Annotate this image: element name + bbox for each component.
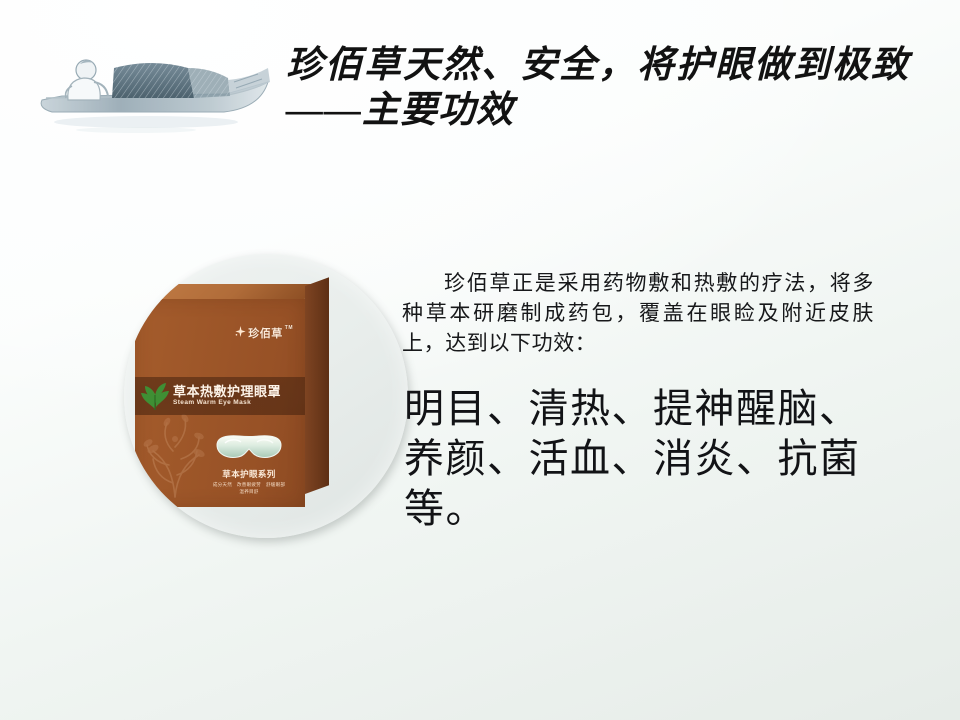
product-brand-tm: TM [285, 326, 293, 331]
body-paragraph: 珍佰草正是采用药物敷和热敷的疗法，将多种草本研磨制成药包，覆盖在眼睑及附近皮肤上… [402, 268, 874, 358]
product-box: 珍佰草 TM 草本热敷护理眼罩 [135, 284, 329, 508]
sparkle-icon [235, 326, 246, 337]
product-box-front-face: 珍佰草 TM 草本热敷护理眼罩 [135, 299, 305, 507]
product-name-text: 草本热敷护理眼罩 Steam Warm Eye Mask [173, 385, 281, 406]
product-series-label: 草本护眼系列 [207, 468, 291, 480]
product-feature: 舒缓眼部 [266, 482, 285, 488]
product-brand-logo: 珍佰草 TM [235, 325, 293, 341]
product-name-en: Steam Warm Eye Mask [173, 400, 281, 407]
product-feature: 改善眼疲劳 [237, 482, 261, 488]
product-feature: 成分天然 [213, 482, 232, 488]
slide-canvas: 珍佰草天然、安全，将护眼做到极致 ——主要功效 [0, 0, 960, 720]
leaf-icon [139, 381, 171, 411]
title-line-1: 珍佰草天然、安全，将护眼做到极致 [286, 44, 946, 87]
product-feature: 温养目舒 [239, 489, 258, 495]
product-photo-circle: 珍佰草 TM 草本热敷护理眼罩 [124, 254, 408, 538]
product-name-band: 草本热敷护理眼罩 Steam Warm Eye Mask [135, 377, 305, 415]
slide-title: 珍佰草天然、安全，将护眼做到极致 ——主要功效 [286, 44, 946, 132]
product-feature-list: 成分天然 改善眼疲劳 舒缓眼部 温养目舒 [207, 482, 291, 495]
product-box-side-face [305, 277, 329, 494]
eye-mask-icon [213, 433, 285, 461]
effects-list-text: 明目、清热、提神醒脑、养颜、活血、消炎、抗菌等。 [404, 384, 886, 534]
title-line-2: ——主要功效 [286, 89, 946, 132]
eye-mask-illustration: 草本护眼系列 成分天然 改善眼疲劳 舒缓眼部 温养目舒 [207, 433, 291, 495]
ink-wash-boat-painting [28, 38, 276, 150]
product-name-cn: 草本热敷护理眼罩 [173, 385, 281, 399]
product-brand-name: 珍佰草 [248, 325, 283, 341]
